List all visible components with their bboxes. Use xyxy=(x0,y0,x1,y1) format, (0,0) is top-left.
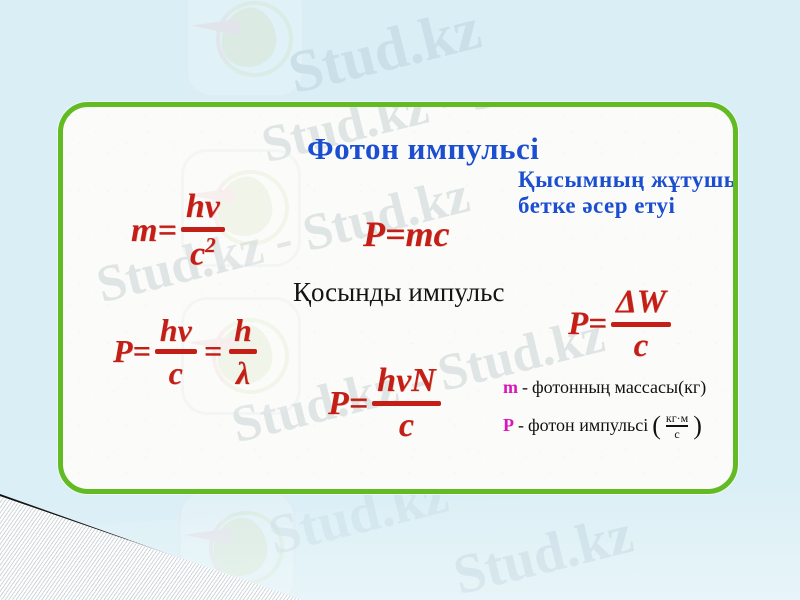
formula-mw-den-1: c xyxy=(164,356,188,390)
formula-mw-equals: = xyxy=(204,333,222,370)
middle-subtitle: Қосынды импульс xyxy=(293,277,504,308)
fraction-bar xyxy=(229,349,257,354)
legend-row-mass: m - фотонның массасы(кг) xyxy=(503,377,706,398)
legend-text-momentum: фотон импульсі xyxy=(528,415,648,436)
formula-pe-numerator: ΔW xyxy=(611,285,671,320)
formula-mt-fraction: hνN c xyxy=(372,363,441,444)
formula-pe-denominator: c xyxy=(629,329,654,364)
formula-mt-lhs: P= xyxy=(328,385,368,423)
fraction-bar xyxy=(155,349,197,354)
legend-unit-denominator: с xyxy=(674,428,679,440)
stud-kz-bird-logo-icon xyxy=(185,0,305,98)
formula-mass-numerator: hν xyxy=(181,189,225,225)
legend-separator: - xyxy=(518,415,524,436)
formula-mt-denominator: c xyxy=(394,408,419,444)
legend-symbol-p: P xyxy=(503,415,514,436)
fraction-bar xyxy=(372,401,441,406)
formula-mt-numerator: hνN xyxy=(372,363,441,399)
formula-pressure-energy: P= ΔW c xyxy=(568,285,675,364)
formula-momentum-wavelength: P= hν c = h λ xyxy=(113,313,261,390)
formula-momentum-simple: P=mc xyxy=(363,213,449,255)
formula-mw-lhs: P= xyxy=(113,333,151,370)
formula-mw-num-2: h xyxy=(229,313,257,347)
formula-pe-lhs: P= xyxy=(568,306,607,343)
formula-momentum-total: P= hνN c xyxy=(328,363,445,444)
formula-mass-lhs: m= xyxy=(131,212,177,250)
formula-mw-num-1: hν xyxy=(155,313,197,347)
legend-separator: - xyxy=(522,377,528,398)
formula-pe-fraction: ΔW c xyxy=(611,285,671,364)
legend-text-mass: фотонның массасы(кг) xyxy=(532,377,706,398)
legend-unit-numerator: кг·м xyxy=(666,412,688,424)
formula-mass-exponent: 2 xyxy=(205,233,216,257)
formula-mass-fraction: hν c2 xyxy=(181,189,225,272)
side-heading-line-1: Қысымның жұтушы xyxy=(518,167,738,193)
formula-mw-den-2: λ xyxy=(231,356,255,390)
card-title: Фотон импульсі xyxy=(307,131,539,167)
fraction-bar xyxy=(611,322,671,327)
formula-mw-fraction-1: hν c xyxy=(155,313,197,390)
side-heading-line-2: бетке әсер етуі xyxy=(518,193,675,219)
formula-mw-fraction-2: h λ xyxy=(229,313,257,390)
formula-card: Stud.kz - Stud.kz Stud.kz - Stud.kz Stud… xyxy=(58,102,738,494)
legend-unit-open: ( xyxy=(652,413,661,439)
formula-photon-mass: m= hν c2 xyxy=(131,189,229,272)
legend-symbol-m: m xyxy=(503,377,518,398)
legend-unit-close: ) xyxy=(693,413,702,439)
watermark-brand-top: Stud.kz xyxy=(282,0,488,108)
legend-unit-fraction: кг·м с xyxy=(666,412,688,440)
slide-canvas: Stud.kz Stud.kz Stud.kz Stud.kz - Stud.k… xyxy=(0,0,800,600)
formula-mass-denominator: c2 xyxy=(185,234,221,272)
legend-row-momentum: P - фотон импульсі ( кг·м с ) xyxy=(503,412,702,440)
fraction-bar xyxy=(181,227,225,232)
